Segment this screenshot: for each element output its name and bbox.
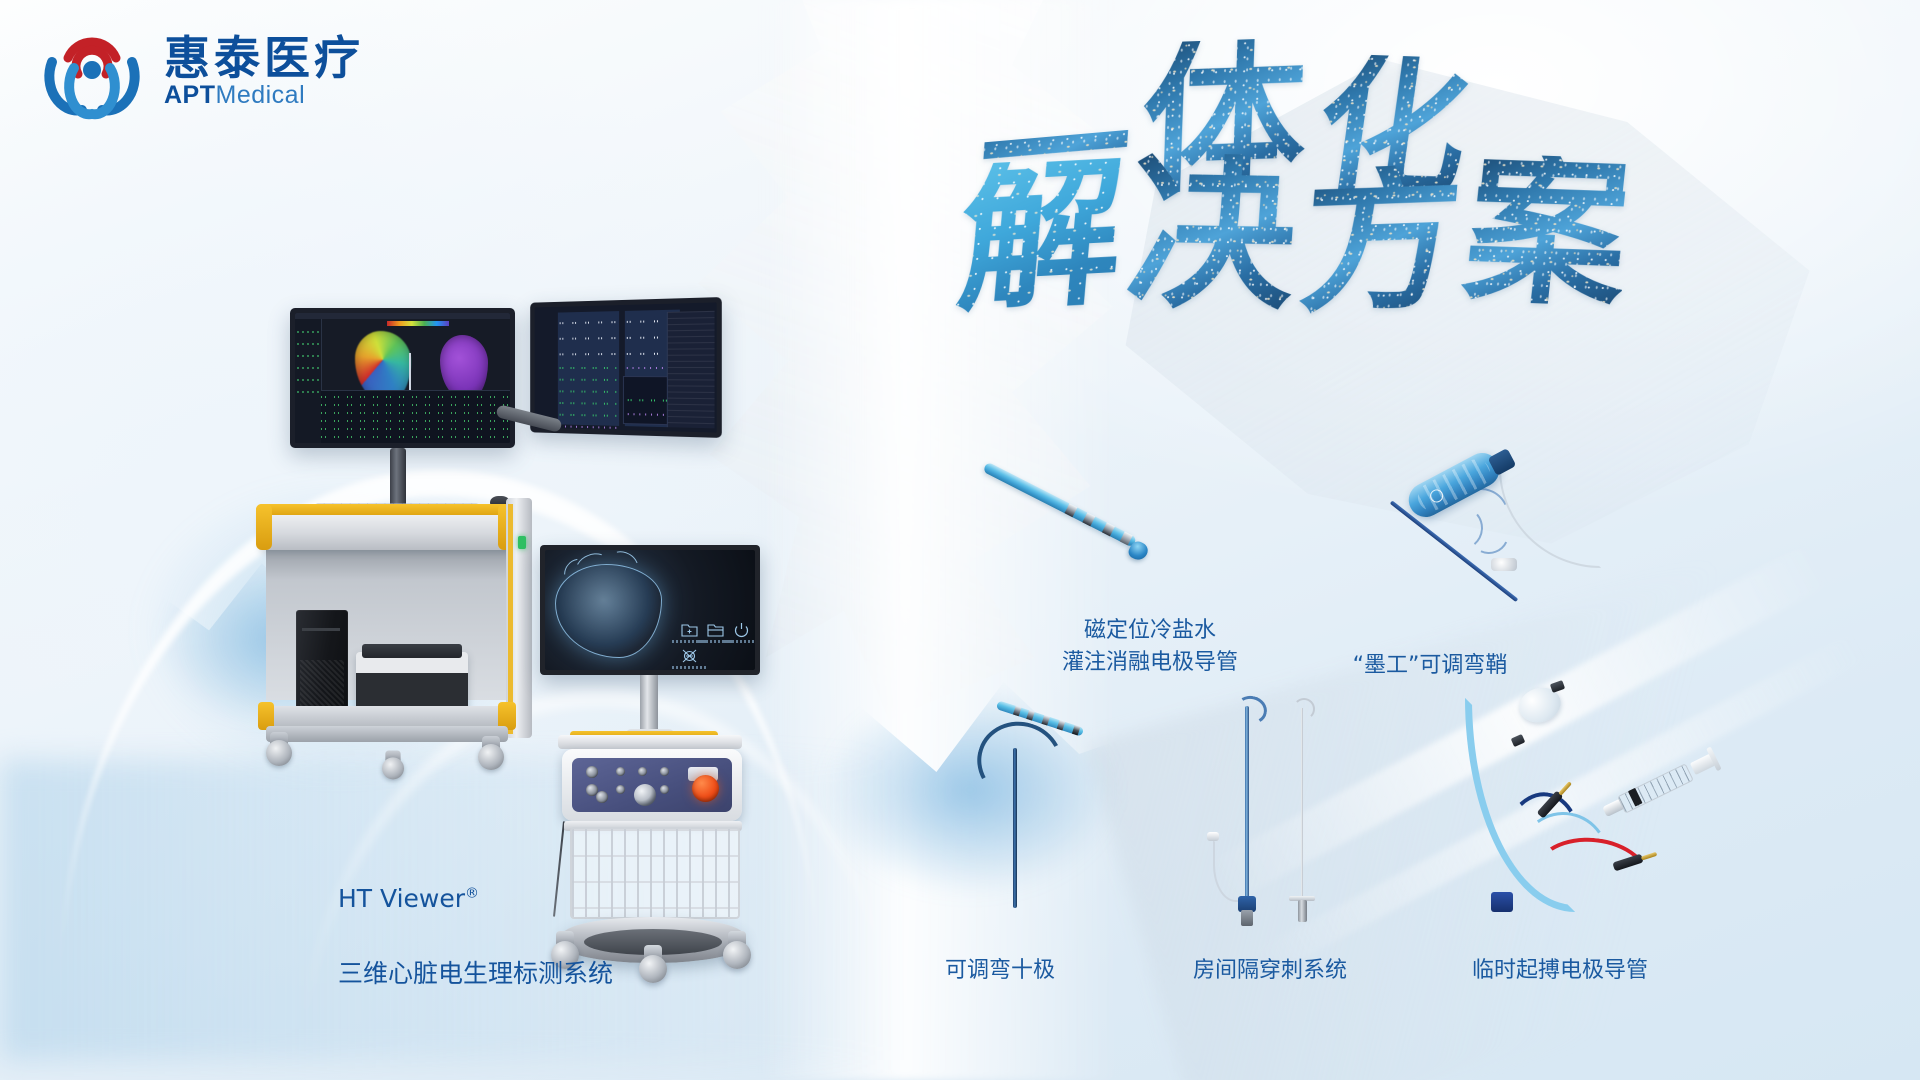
needle-curve (1293, 698, 1315, 720)
heart-welcome-screen (545, 550, 755, 670)
generator-tray (558, 735, 742, 749)
steerable-decapolar-catheter-icon (955, 700, 1105, 910)
generator-front-panel (572, 758, 732, 812)
transseptal-puncture-system-icon (1205, 690, 1335, 920)
tray-corner-left (256, 504, 272, 550)
irrigated-ablation-catheter-icon (985, 445, 1165, 575)
steerable-sheath-icon (1395, 440, 1655, 610)
transseptal-needle (1301, 708, 1303, 900)
irrigation-droplet-icon (1126, 539, 1150, 563)
cart-column-stripe (508, 504, 513, 734)
hemostatic-valve (1491, 558, 1517, 571)
tip-electrode (1550, 680, 1565, 693)
recording-monitor-bezel (535, 302, 717, 432)
headline-char-jue: 决 (1123, 153, 1302, 316)
brand-logo: 惠泰医疗 APTMedical (38, 18, 364, 124)
ep-recording-screen (535, 302, 717, 432)
sheath-shaft (1499, 468, 1601, 568)
headline-line-2: 解 决 方 案 (960, 160, 1628, 316)
ep-measurement-table (667, 311, 715, 429)
system-subtitle: 三维心脏电生理标测系统 (338, 955, 613, 993)
temporary-pacing-electrode-catheter-icon (1455, 680, 1725, 930)
new-study-icon[interactable] (681, 622, 698, 638)
generator-power-button[interactable] (692, 775, 719, 802)
caster-wheel (636, 943, 670, 983)
display-column (640, 675, 658, 733)
caster-wheel (720, 929, 754, 969)
side-port (1207, 832, 1219, 841)
magnetic-registration-icon[interactable] (681, 648, 698, 664)
power-status-led (518, 536, 526, 549)
3d-cardiac-map-screen (295, 313, 510, 443)
cart-body (260, 510, 530, 770)
cart-base-plate (266, 726, 508, 742)
lead-junction-hub (1491, 892, 1513, 912)
mapping-sidebar (295, 319, 322, 443)
headline-calligraphy: 一 体 化 解 决 方 案 (960, 40, 1660, 350)
catheter-shaft (983, 462, 1138, 548)
caster-wheel (476, 736, 506, 770)
workstation-pc (296, 610, 348, 712)
monitor-stand (390, 448, 406, 508)
product-caption-pacing-lead: 临时起搏电极导管 (1420, 955, 1700, 987)
headline-char-an: 案 (1458, 153, 1636, 312)
recording-monitor (530, 297, 722, 438)
mapping-monitor (290, 308, 515, 448)
headline-char-jie: 解 (953, 156, 1130, 318)
apt-medical-logo-icon (38, 18, 146, 124)
product-caption-steerable-sheath: “墨工”可调弯鞘 (1300, 650, 1560, 682)
tray-handle-rail[interactable] (256, 504, 516, 515)
brand-name-en: APTMedical (164, 83, 364, 108)
heart-display-monitor (540, 545, 760, 675)
cart-base-shelf (260, 706, 512, 728)
sheath-hub-stem (1241, 910, 1253, 926)
system-product-name: HT Viewer® (338, 880, 613, 918)
registered-mark: ® (465, 885, 479, 901)
brand-wordmark: 惠泰医疗 APTMedical (164, 35, 364, 108)
mapping-monitor-bezel (295, 313, 510, 443)
brand-name-en-bold: APT (164, 81, 216, 109)
inflation-syringe (1601, 754, 1705, 821)
laser-printer (356, 652, 468, 714)
sheath-distal-curve (1232, 693, 1269, 727)
keyboard-tray (260, 510, 512, 550)
caster-wheel (380, 751, 406, 780)
poster-canvas: 惠泰医疗 APTMedical 一 体 化 解 决 方 案 (0, 0, 1920, 1080)
headline-char-fang: 方 (1295, 163, 1467, 319)
product-caption-transseptal-system: 房间隔穿刺系统 (1140, 955, 1400, 987)
caster-wheel (264, 732, 294, 766)
power-icon[interactable] (733, 622, 750, 638)
side-arm-tubing (1213, 840, 1251, 902)
needle-hub-stem (1298, 900, 1307, 922)
rf-generator (562, 749, 742, 821)
brand-name-en-light: Medical (216, 81, 306, 109)
open-study-icon[interactable] (707, 622, 724, 638)
system-caption: HT Viewer® 三维心脏电生理标测系统 (338, 842, 613, 1030)
product-caption-ablation-catheter: 磁定位冷盐水 灌注消融电极导管 (1020, 615, 1280, 679)
product-caption-decapolar-catheter: 可调弯十极 (900, 955, 1100, 987)
voltage-color-scale (387, 321, 449, 326)
mapping-ecg-panel (321, 390, 510, 443)
brand-name-cn: 惠泰医疗 (164, 35, 364, 81)
mapping-toolbar (295, 313, 510, 319)
